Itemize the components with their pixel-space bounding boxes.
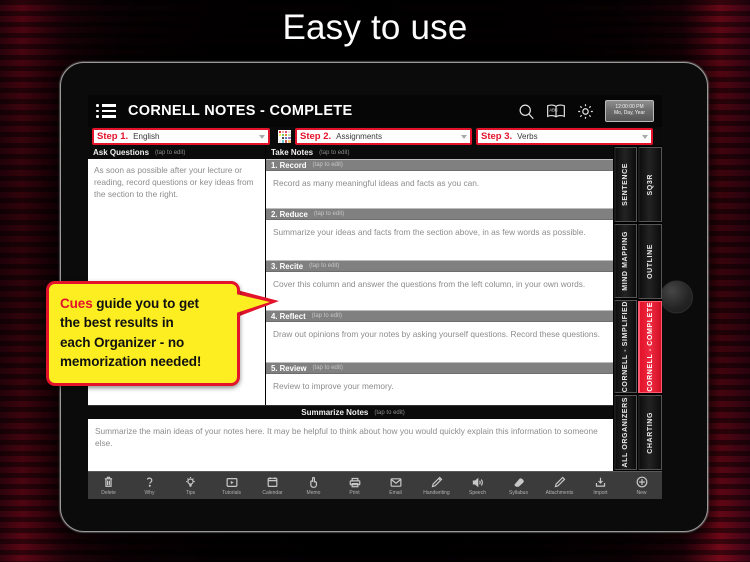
page-title: Easy to use bbox=[0, 8, 750, 48]
tap-to-edit-hint: (tap to edit) bbox=[313, 365, 343, 371]
note-section: 3. Recite (tap to edit) Cover this colum… bbox=[266, 260, 613, 310]
organizer-tab-mind-mapping[interactable]: MIND MAPPING bbox=[614, 224, 638, 299]
tab-label: SQ3R bbox=[647, 174, 654, 195]
callout-tail bbox=[236, 294, 270, 313]
summarize-notes-text: Summarize the main ideas of your notes h… bbox=[95, 425, 606, 449]
tap-to-edit-hint: (tap to edit) bbox=[155, 150, 185, 156]
app-header-actions: ABC 12:00:00 PM Mo, Day, Year bbox=[518, 100, 656, 122]
section-body-recite[interactable]: Cover this column and answer the questio… bbox=[266, 272, 613, 294]
section-header-reduce[interactable]: 2. Reduce (tap to edit) bbox=[266, 208, 613, 220]
callout-line-1: Cues guide you to get bbox=[60, 294, 226, 313]
toolbar-button-why[interactable]: Why bbox=[129, 475, 170, 496]
pencil-icon bbox=[431, 475, 443, 489]
note-section: 4. Reflect (tap to edit) Draw out opinio… bbox=[266, 310, 613, 362]
callout-bubble: Cues guide you to get the best results i… bbox=[46, 281, 240, 386]
organizer-tab-sq3r[interactable]: SQ3R bbox=[638, 147, 662, 222]
step-1-value: English bbox=[133, 132, 159, 141]
organizer-tab-cornell-complete[interactable]: CORNELL - COMPLETE bbox=[638, 301, 662, 393]
plus-circle-icon bbox=[636, 475, 648, 489]
app-header: CORNELL NOTES - COMPLETE ABC 12:00:00 PM… bbox=[88, 95, 662, 127]
toolbar-button-import[interactable]: Import bbox=[580, 475, 621, 496]
speaker-icon bbox=[472, 475, 484, 489]
toolbar-button-speech[interactable]: Speech bbox=[457, 475, 498, 496]
tap-to-edit-hint: (tap to edit) bbox=[319, 150, 349, 156]
toolbar-button-memo[interactable]: Memo bbox=[293, 475, 334, 496]
lightbulb-icon bbox=[185, 475, 196, 489]
svg-text:ABC: ABC bbox=[549, 108, 558, 113]
summarize-notes-body[interactable]: Summarize the main ideas of your notes h… bbox=[88, 419, 613, 471]
tap-to-edit-hint: (tap to edit) bbox=[309, 263, 339, 269]
chevron-down-icon bbox=[259, 135, 265, 139]
step-2-label: Step 2. bbox=[300, 131, 331, 142]
tab-label: ALL ORGANIZERS bbox=[622, 397, 629, 468]
step-selector-bar: Step 1. English Step 2. Assignments Step… bbox=[88, 127, 662, 146]
step-3-label: Step 3. bbox=[481, 131, 512, 142]
paperclip-icon bbox=[554, 475, 566, 489]
tab-label: OUTLINE bbox=[647, 244, 654, 279]
organizer-tab-outline[interactable]: OUTLINE bbox=[638, 224, 662, 299]
toolbar-label: Why bbox=[145, 490, 155, 496]
summarize-notes-header: Summarize Notes (tap to edit) bbox=[88, 406, 613, 419]
section-title: 5. Review bbox=[271, 364, 307, 373]
toolbar-button-tips[interactable]: Tips bbox=[170, 475, 211, 496]
toolbar-label: Speech bbox=[469, 490, 486, 496]
section-body-review[interactable]: Review to improve your memory. bbox=[266, 374, 613, 396]
callout-line-1-rest: guide you to get bbox=[93, 296, 199, 311]
section-text: Record as many meaningful ideas and fact… bbox=[273, 177, 606, 189]
organizer-tabs: SENTENCE MIND MAPPING CORNELL - SIMPLIFI… bbox=[613, 146, 662, 471]
tap-to-edit-hint: (tap to edit) bbox=[374, 410, 404, 416]
toolbar-button-attachments[interactable]: Attachments bbox=[539, 475, 580, 496]
color-palette-icon[interactable] bbox=[278, 130, 291, 143]
toolbar-label: Delete bbox=[101, 490, 115, 496]
search-icon[interactable] bbox=[518, 103, 535, 120]
clock-widget[interactable]: 12:00:00 PM Mo, Day, Year bbox=[605, 100, 654, 122]
tab-label: MIND MAPPING bbox=[622, 231, 629, 291]
tab-label: CORNELL - COMPLETE bbox=[647, 302, 654, 392]
organizer-tab-charting[interactable]: CHARTING bbox=[638, 395, 662, 470]
toolbar-label: Tips bbox=[186, 490, 195, 496]
callout-line-2: the best results in bbox=[60, 313, 226, 332]
tab-label: CORNELL - SIMPLIFIED bbox=[622, 301, 629, 392]
toolbar-label: New bbox=[636, 490, 646, 496]
section-title: 2. Reduce bbox=[271, 210, 308, 219]
chevron-down-icon bbox=[642, 135, 648, 139]
gear-icon[interactable] bbox=[577, 103, 594, 120]
step-1-label: Step 1. bbox=[97, 131, 128, 142]
section-header-record[interactable]: 1. Record (tap to edit) bbox=[266, 159, 613, 171]
toolbar-button-email[interactable]: Email bbox=[375, 475, 416, 496]
question-mark-icon bbox=[144, 475, 155, 489]
envelope-icon bbox=[390, 475, 402, 489]
toolbar-label: Syllabus bbox=[509, 490, 528, 496]
step-2-value: Assignments bbox=[336, 132, 382, 141]
step-2-dropdown[interactable]: Step 2. Assignments bbox=[295, 128, 472, 145]
section-header-recite[interactable]: 3. Recite (tap to edit) bbox=[266, 260, 613, 272]
note-section: 1. Record (tap to edit) Record as many m… bbox=[266, 159, 613, 208]
toolbar-button-handwriting[interactable]: Handwriting bbox=[416, 475, 457, 496]
step-3-dropdown[interactable]: Step 3. Verbs bbox=[476, 128, 653, 145]
organizer-tab-sentence[interactable]: SENTENCE bbox=[614, 147, 638, 222]
ask-questions-text: As soon as possible after your lecture o… bbox=[94, 164, 259, 200]
step-3-value: Verbs bbox=[517, 132, 537, 141]
step-1-dropdown[interactable]: Step 1. English bbox=[92, 128, 270, 145]
toolbar-label: Import bbox=[593, 490, 607, 496]
tab-label: SENTENCE bbox=[622, 163, 629, 206]
toolbar-label: Memo bbox=[307, 490, 321, 496]
download-box-icon bbox=[595, 475, 606, 489]
section-header-reflect[interactable]: 4. Reflect (tap to edit) bbox=[266, 310, 613, 322]
section-text: Draw out opinions from your notes by ask… bbox=[273, 328, 606, 340]
organizer-tabs-left: SENTENCE MIND MAPPING CORNELL - SIMPLIFI… bbox=[613, 146, 638, 471]
ask-questions-title: Ask Questions bbox=[93, 148, 149, 157]
section-text: Cover this column and answer the questio… bbox=[273, 278, 606, 290]
callout-line-3: each Organizer - no bbox=[60, 333, 226, 352]
toolbar-button-syllabus[interactable]: Syllabus bbox=[498, 475, 539, 496]
organizer-tabs-right: SQ3R OUTLINE CORNELL - COMPLETE CHARTING bbox=[638, 146, 663, 471]
ask-questions-header: Ask Questions (tap to edit) bbox=[88, 146, 265, 159]
toolbar-button-delete[interactable]: Delete bbox=[88, 475, 129, 496]
toolbar-label: Print bbox=[349, 490, 359, 496]
organizer-tab-all-organizers[interactable]: ALL ORGANIZERS bbox=[614, 395, 638, 470]
callout-highlight: Cues bbox=[60, 296, 93, 311]
section-body-reduce[interactable]: Summarize your ideas and facts from the … bbox=[266, 220, 613, 242]
section-text: Summarize your ideas and facts from the … bbox=[273, 226, 606, 238]
summarize-notes-title: Summarize Notes bbox=[301, 408, 368, 417]
tap-to-edit-hint: (tap to edit) bbox=[312, 313, 342, 319]
toolbar-label: Handwriting bbox=[423, 490, 449, 496]
note-section: 5. Review (tap to edit) Review to improv… bbox=[266, 362, 613, 405]
note-section: 2. Reduce (tap to edit) Summarize your i… bbox=[266, 208, 613, 260]
summarize-notes-section: Summarize Notes (tap to edit) Summarize … bbox=[88, 405, 613, 471]
toolbar-button-new[interactable]: New bbox=[621, 475, 662, 496]
take-notes-sections: 1. Record (tap to edit) Record as many m… bbox=[266, 159, 613, 405]
bottom-toolbar: Delete Why Tips Tutorials Calendar Memo bbox=[88, 471, 662, 499]
section-title: 1. Record bbox=[271, 161, 307, 170]
take-notes-title: Take Notes bbox=[271, 148, 313, 157]
section-header-review[interactable]: 5. Review (tap to edit) bbox=[266, 362, 613, 374]
app-title: CORNELL NOTES - COMPLETE bbox=[128, 103, 352, 119]
toolbar-label: Tutorials bbox=[222, 490, 241, 496]
toolbar-label: Attachments bbox=[546, 490, 574, 496]
trash-icon bbox=[103, 475, 114, 489]
section-title: 3. Recite bbox=[271, 262, 303, 271]
take-notes-header: Take Notes (tap to edit) bbox=[266, 146, 613, 159]
section-body-record[interactable]: Record as many meaningful ideas and fact… bbox=[266, 171, 613, 193]
video-play-icon bbox=[226, 475, 238, 489]
home-button[interactable] bbox=[660, 281, 693, 314]
tap-to-edit-hint: (tap to edit) bbox=[313, 162, 343, 168]
printer-icon bbox=[349, 475, 361, 489]
toolbar-button-tutorials[interactable]: Tutorials bbox=[211, 475, 252, 496]
hand-tap-icon bbox=[308, 475, 319, 489]
clock-date: Mo, Day, Year bbox=[614, 111, 645, 117]
book-abc-icon[interactable]: ABC bbox=[546, 103, 566, 119]
tap-to-edit-hint: (tap to edit) bbox=[314, 211, 344, 217]
chevron-down-icon bbox=[461, 135, 467, 139]
organizer-tab-cornell-simplified[interactable]: CORNELL - SIMPLIFIED bbox=[614, 300, 638, 393]
calendar-icon bbox=[267, 475, 278, 489]
section-body-reflect[interactable]: Draw out opinions from your notes by ask… bbox=[266, 322, 613, 344]
take-notes-column: Take Notes (tap to edit) 1. Record (tap … bbox=[266, 146, 613, 405]
toolbar-button-calendar[interactable]: Calendar bbox=[252, 475, 293, 496]
callout-line-4: memorization needed! bbox=[60, 352, 226, 371]
hamburger-list-icon[interactable] bbox=[96, 104, 116, 118]
toolbar-button-print[interactable]: Print bbox=[334, 475, 375, 496]
eraser-icon bbox=[513, 475, 525, 489]
toolbar-label: Email bbox=[389, 490, 402, 496]
toolbar-label: Calendar bbox=[262, 490, 282, 496]
tab-label: CHARTING bbox=[647, 412, 654, 454]
section-text: Review to improve your memory. bbox=[273, 380, 606, 392]
